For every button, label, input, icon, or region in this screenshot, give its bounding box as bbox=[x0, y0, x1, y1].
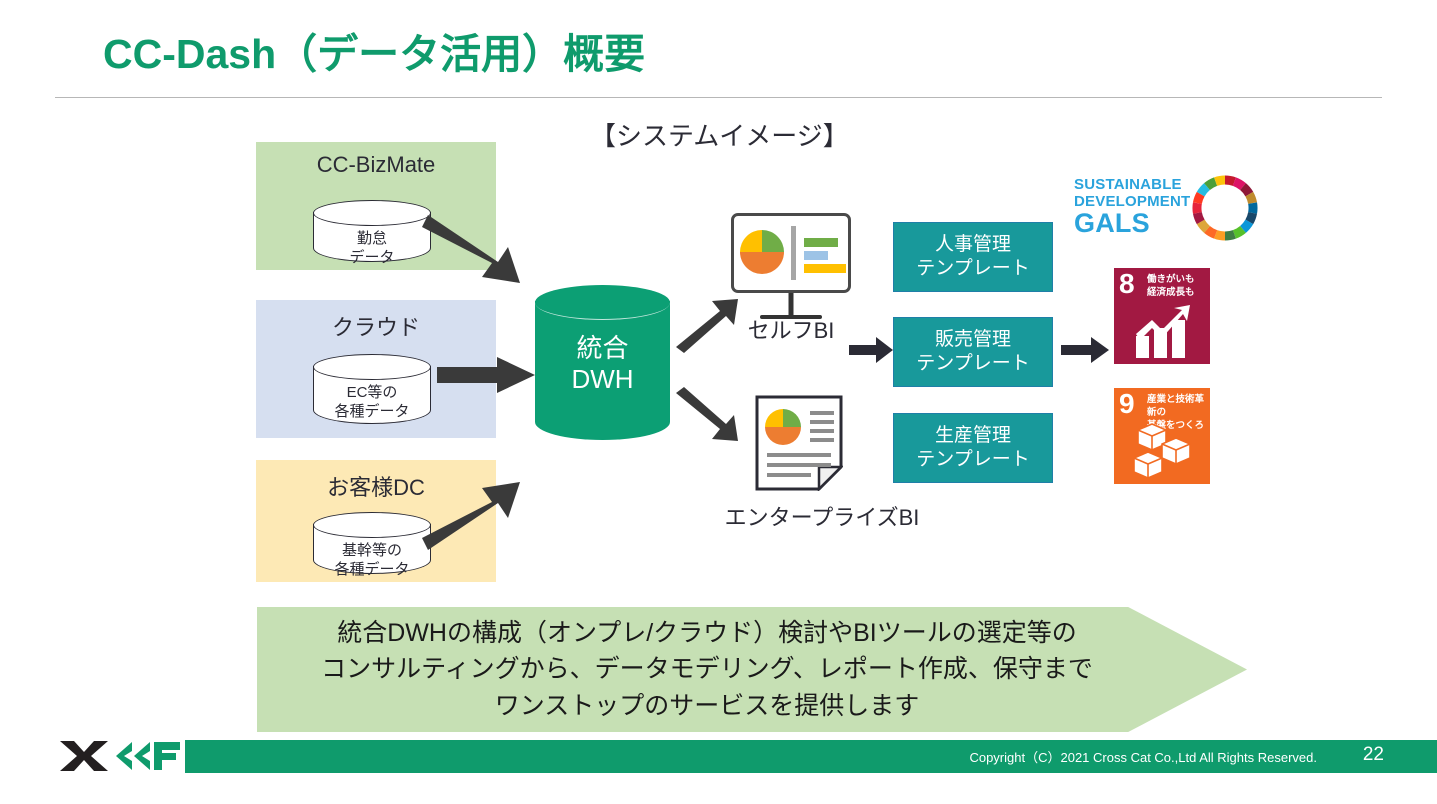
title-divider bbox=[55, 97, 1382, 98]
source-box-label: CC-BizMate bbox=[256, 152, 496, 178]
dwh-label: 統合 DWH bbox=[535, 333, 670, 395]
monitor-screen bbox=[731, 213, 851, 293]
monitor-stand bbox=[789, 293, 794, 315]
sdg-logo-line1: SUSTAINABLE bbox=[1074, 177, 1192, 192]
cylinder-top bbox=[313, 512, 431, 538]
slide-canvas: CC-Dash（データ活用）概要 【システムイメージ】 CC-BizMate 勤… bbox=[0, 0, 1437, 804]
template-line1: 人事管理 bbox=[916, 233, 1029, 257]
bottom-strip bbox=[0, 786, 1437, 804]
database-cylinder-ec: EC等の 各種データ bbox=[313, 354, 431, 424]
template-box-text: 販売管理 テンプレート bbox=[916, 328, 1029, 376]
cylinder-label: 勤怠 データ bbox=[313, 230, 431, 268]
cylinder-label: EC等の 各種データ bbox=[313, 384, 431, 422]
cubes-icon bbox=[1130, 422, 1194, 480]
sdg-goal-8-tile: 8 働きがいも 経済成長も bbox=[1114, 268, 1210, 364]
arrow-customerdc-to-dwh bbox=[420, 470, 540, 560]
enterprise-bi-label: エンタープライズBI bbox=[662, 500, 982, 532]
template-box-hr[interactable]: 人事管理 テンプレート bbox=[893, 222, 1053, 292]
template-line2: テンプレート bbox=[916, 257, 1029, 281]
template-line2: テンプレート bbox=[916, 448, 1029, 472]
cylinder-label-line1: 勤怠 bbox=[313, 230, 431, 249]
template-box-production[interactable]: 生産管理 テンプレート bbox=[893, 413, 1053, 483]
template-line1: 生産管理 bbox=[916, 424, 1029, 448]
dwh-label-line2: DWH bbox=[535, 364, 670, 395]
arrow-bizmate-to-dwh bbox=[420, 205, 540, 295]
summary-banner-text: 統合DWHの構成（オンプレ/クラウド）検討やBIツールの選定等の コンサルティン… bbox=[267, 615, 1147, 724]
summary-line3: ワンストップのサービスを提供します bbox=[267, 688, 1147, 724]
cylinder-label-line1: EC等の bbox=[313, 384, 431, 403]
cylinder-label-line2: データ bbox=[313, 249, 431, 268]
sdg-logo-text: SUSTAINABLE DEVELOPMENT GALS bbox=[1074, 177, 1192, 237]
sdg-goal-number: 8 bbox=[1119, 270, 1135, 298]
cylinder-label-line2: 各種データ bbox=[313, 403, 431, 422]
document-chart-icon bbox=[755, 395, 843, 491]
sdg-logo: SUSTAINABLE DEVELOPMENT GALS bbox=[1074, 175, 1259, 245]
footer-page-number: 22 bbox=[1363, 744, 1384, 766]
template-box-text: 生産管理 テンプレート bbox=[916, 424, 1029, 472]
template-box-text: 人事管理 テンプレート bbox=[916, 233, 1029, 281]
sdg-color-wheel-icon bbox=[1192, 175, 1258, 241]
dwh-cylinder-top bbox=[535, 285, 670, 320]
dwh-label-line1: 統合 bbox=[535, 333, 670, 364]
arrow-dwh-to-enterprisebi bbox=[672, 385, 742, 445]
sdg-logo-line2: DEVELOPMENT bbox=[1074, 194, 1192, 209]
sdg-goal-line1: 産業と技術革新の bbox=[1147, 394, 1207, 420]
self-bi-monitor-icon bbox=[731, 213, 851, 293]
page-title: CC-Dash（データ活用）概要 bbox=[103, 20, 645, 80]
arrow-bi-to-templates bbox=[848, 335, 894, 365]
template-line2: テンプレート bbox=[916, 352, 1029, 376]
arrow-cloud-to-dwh bbox=[435, 355, 540, 395]
summary-line1: 統合DWHの構成（オンプレ/クラウド）検討やBIツールの選定等の bbox=[267, 615, 1147, 651]
cylinder-label: 基幹等の 各種データ bbox=[313, 542, 431, 580]
section-heading: 【システムイメージ】 bbox=[590, 116, 849, 153]
summary-line2: コンサルティングから、データモデリング、レポート作成、保守まで bbox=[267, 651, 1147, 687]
sdg-logo-line3: GALS bbox=[1074, 210, 1192, 237]
sdg-goal-line2: 経済成長も bbox=[1147, 287, 1207, 300]
cylinder-top bbox=[313, 200, 431, 226]
sdg-goal-number: 9 bbox=[1119, 390, 1135, 418]
template-box-sales[interactable]: 販売管理 テンプレート bbox=[893, 317, 1053, 387]
sdg-goal-line1: 働きがいも bbox=[1147, 274, 1207, 287]
enterprise-bi-document-icon bbox=[755, 395, 843, 491]
footer-copyright: Copyright（C）2021 Cross Cat Co.,Ltd All R… bbox=[969, 747, 1317, 766]
cylinder-label-line1: 基幹等の bbox=[313, 542, 431, 561]
sdg-goal-9-tile: 9 産業と技術革新の 基盤をつくろう bbox=[1114, 388, 1210, 484]
source-box-label: クラウド bbox=[256, 310, 496, 342]
database-cylinder-kikan: 基幹等の 各種データ bbox=[313, 512, 431, 574]
cylinder-top bbox=[313, 354, 431, 380]
summary-banner: 統合DWHの構成（オンプレ/クラウド）検討やBIツールの選定等の コンサルティン… bbox=[257, 607, 1247, 732]
template-line1: 販売管理 bbox=[916, 328, 1029, 352]
arrow-templates-to-sdg bbox=[1060, 335, 1110, 365]
cylinder-label-line2: 各種データ bbox=[313, 561, 431, 580]
database-cylinder-kintai: 勤怠 データ bbox=[313, 200, 431, 262]
dwh-cylinder: 統合 DWH bbox=[535, 285, 670, 440]
cross-cat-logo bbox=[58, 733, 186, 779]
sdg-goal-text: 働きがいも 経済成長も bbox=[1147, 274, 1207, 300]
monitor-chart-icon bbox=[734, 216, 848, 290]
growth-bars-arrow-icon bbox=[1132, 304, 1194, 360]
